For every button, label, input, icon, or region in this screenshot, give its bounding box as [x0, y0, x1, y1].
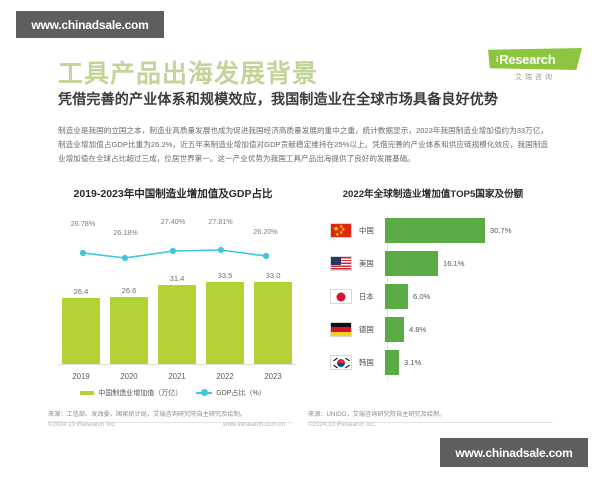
japan-flag	[330, 289, 352, 304]
bar-2019	[62, 298, 100, 364]
gdp-share-line-layer: 26.78% 26.18% 27.40% 27.81% 26.20%	[48, 213, 298, 277]
country-label: 日本	[359, 291, 385, 302]
bar-japan	[385, 284, 408, 309]
logo-name: Research	[499, 52, 555, 67]
left-combo-chart: 26.78% 26.18% 27.40% 27.81% 26.20% 26.4 …	[48, 213, 298, 398]
iresearch-logo: i Research 艾瑞咨询	[488, 48, 582, 82]
manufacturing-bars: 26.4 26.6 31.4 33.5 33.0	[62, 271, 292, 364]
usa-canton	[331, 257, 341, 265]
right-copyright: ©2024.10 iResearch Inc.	[308, 421, 376, 428]
bar-value: 3.1%	[404, 358, 421, 367]
page-subtitle: 凭借完善的产业体系和规模效应，我国制造业在全球市场具备良好优势	[58, 89, 498, 109]
bar-value: 26.6	[122, 286, 137, 295]
x-tick: 2021	[158, 372, 196, 381]
bar-track: 6.0%	[385, 284, 558, 309]
bar-2022	[206, 282, 244, 364]
legend-line-icon	[196, 392, 212, 394]
bar-track: 30.7%	[385, 218, 558, 243]
logo-badge: i Research	[488, 48, 582, 70]
bar-track: 16.1%	[385, 251, 558, 276]
country-label: 德国	[359, 324, 385, 335]
legend-item-bar: 中国制造业增加值（万亿）	[80, 388, 182, 398]
left-chart-legend: 中国制造业增加值（万亿） GDP占比（%）	[48, 388, 298, 398]
right-chart-title: 2022年全球制造业增加值TOP5国家及份额	[308, 186, 558, 200]
top5-country-bars: ★ ★ ★ ★ ★ 中国 30.7% 美国 16.1%	[308, 214, 558, 385]
bar-value: 4.8%	[409, 325, 426, 334]
country-row: 日本 6.0%	[308, 280, 558, 313]
japan-sun	[337, 292, 346, 301]
bar-column: 26.4	[62, 271, 100, 364]
left-chart-title: 2019-2023年中国制造业增加值及GDP占比	[48, 186, 298, 203]
x-tick: 2023	[254, 372, 292, 381]
china-flag: ★ ★ ★ ★ ★	[330, 223, 352, 238]
bar-south-korea	[385, 350, 399, 375]
south-korea-flag	[330, 355, 352, 370]
logo-subtitle: 艾瑞咨询	[488, 72, 582, 82]
page-title: 工具产品出海发展背景	[58, 54, 318, 90]
logo-prefix: i	[496, 55, 498, 64]
country-label: 美国	[359, 258, 385, 269]
bar-track: 4.8%	[385, 317, 558, 342]
bar-value: 26.4	[74, 287, 89, 296]
x-tick: 2022	[206, 372, 244, 381]
bar-track: 3.1%	[385, 350, 558, 375]
bar-value: 33.5	[218, 271, 233, 280]
country-label: 韩国	[359, 357, 385, 368]
legend-item-line: GDP占比（%）	[196, 388, 265, 398]
bar-column: 26.6	[110, 271, 148, 364]
bar-column: 31.4	[158, 271, 196, 364]
country-row: 德国 4.8%	[308, 313, 558, 346]
germany-flag	[330, 322, 352, 337]
bar-2021	[158, 285, 196, 364]
legend-swatch-icon	[80, 391, 94, 395]
legend-label: GDP占比（%）	[216, 388, 265, 398]
left-copyright: ©2024.10 iResearch Inc.	[48, 421, 116, 428]
country-row: 韩国 3.1%	[308, 346, 558, 379]
gdp-share-line-svg	[48, 213, 298, 277]
korea-taeguk	[337, 359, 345, 367]
x-axis-line	[58, 364, 296, 365]
bar-value: 30.7%	[490, 226, 512, 235]
bar-column: 33.0	[254, 271, 292, 364]
website-link[interactable]: www.iresearch.com.cn	[223, 421, 285, 428]
x-axis-labels: 2019 2020 2021 2022 2023	[62, 372, 292, 381]
bar-value: 16.1%	[443, 259, 465, 268]
bar-column: 33.5	[206, 271, 244, 364]
bar-usa	[385, 251, 438, 276]
country-row: 美国 16.1%	[308, 247, 558, 280]
right-chart-panel: 2022年全球制造业增加值TOP5国家及份额 ★ ★ ★ ★ ★ 中国 30.7…	[308, 186, 558, 385]
x-tick: 2020	[110, 372, 148, 381]
legend-label: 中国制造业增加值（万亿）	[98, 388, 182, 398]
watermark-top: www.chinadsale.com	[16, 11, 164, 38]
bar-2020	[110, 297, 148, 364]
bar-china	[385, 218, 485, 243]
bar-value: 33.0	[266, 271, 281, 280]
body-paragraph: 制造业是我国的立国之本，制造业高质量发展也成为促进我国经济高质量发展的重中之重，…	[58, 124, 548, 166]
country-label: 中国	[359, 225, 385, 236]
bar-value: 31.4	[170, 274, 185, 283]
x-tick: 2019	[62, 372, 100, 381]
watermark-bottom: www.chinadsale.com	[440, 438, 588, 467]
usa-flag	[330, 256, 352, 271]
bar-value: 6.0%	[413, 292, 430, 301]
bar-2023	[254, 282, 292, 364]
left-chart-panel: 2019-2023年中国制造业增加值及GDP占比 26.78% 26.18% 2…	[48, 186, 298, 398]
bar-germany	[385, 317, 404, 342]
country-row: ★ ★ ★ ★ ★ 中国 30.7%	[308, 214, 558, 247]
